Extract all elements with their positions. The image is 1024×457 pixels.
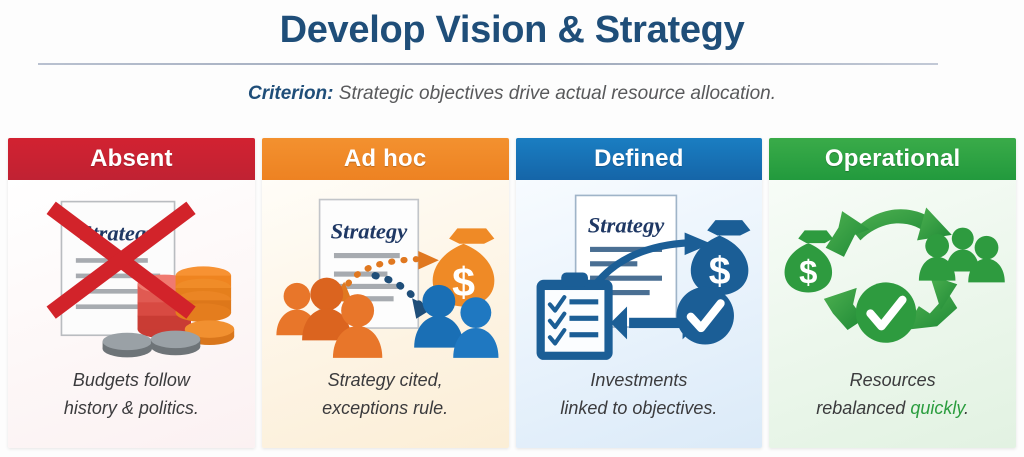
criterion-label: Criterion: bbox=[248, 83, 334, 104]
caption-line-2-pre: rebalanced bbox=[816, 398, 910, 418]
money-bag-icon-green: $ bbox=[785, 230, 833, 292]
illustration-operational: $ bbox=[769, 180, 1016, 362]
svg-text:Strategy: Strategy bbox=[587, 212, 665, 237]
illustration-ad-hoc: Strategy $ bbox=[262, 180, 509, 362]
caption-line-1: Resources bbox=[777, 366, 1008, 394]
card-caption-absent: Budgets follow history & politics. bbox=[8, 362, 255, 448]
caption-line-2-post: . bbox=[964, 398, 969, 418]
title-divider bbox=[38, 63, 938, 65]
page-title: Develop Vision & Strategy bbox=[0, 4, 1024, 56]
caption-line-2: exceptions rule. bbox=[270, 394, 501, 422]
illustration-absent: Strategy bbox=[8, 180, 255, 362]
illustration-defined: Strategy $ bbox=[516, 180, 763, 362]
ad-hoc-artwork: Strategy $ bbox=[262, 180, 509, 362]
card-body-operational: $ bbox=[769, 180, 1016, 448]
card-caption-defined: Investments linked to objectives. bbox=[516, 362, 763, 448]
caption-line-2: history & politics. bbox=[16, 394, 247, 422]
caption-line-2: rebalanced quickly. bbox=[777, 394, 1008, 422]
card-header-operational: Operational bbox=[769, 138, 1016, 180]
card-caption-operational: Resources rebalanced quickly. bbox=[769, 362, 1016, 448]
svg-text:$: $ bbox=[708, 250, 730, 293]
caption-line-2: linked to objectives. bbox=[524, 394, 755, 422]
check-circle-icon bbox=[856, 282, 916, 342]
card-header-ad-hoc: Ad hoc bbox=[262, 138, 509, 180]
maturity-card-defined[interactable]: Defined Strategy bbox=[516, 138, 763, 448]
svg-text:Strategy: Strategy bbox=[330, 219, 408, 244]
maturity-scale-graphic: Develop Vision & Strategy Criterion: Str… bbox=[0, 0, 1024, 457]
absent-artwork: Strategy bbox=[8, 180, 255, 362]
criterion-line: Criterion: Strategic objectives drive ac… bbox=[0, 80, 1024, 108]
card-header-absent: Absent bbox=[8, 138, 255, 180]
clipboard-checklist-icon bbox=[536, 273, 612, 360]
maturity-card-ad-hoc[interactable]: Ad hoc Strategy bbox=[262, 138, 509, 448]
maturity-card-row: Absent Strategy bbox=[8, 138, 1016, 448]
card-header-defined: Defined bbox=[516, 138, 763, 180]
caption-line-1: Budgets follow bbox=[16, 366, 247, 394]
svg-text:$: $ bbox=[799, 253, 817, 290]
maturity-card-operational[interactable]: Operational bbox=[769, 138, 1016, 448]
criterion-text: Strategic objectives drive actual resour… bbox=[339, 83, 776, 104]
caption-line-1: Strategy cited, bbox=[270, 366, 501, 394]
coin-grey-left bbox=[103, 333, 152, 358]
card-body-defined: Strategy $ bbox=[516, 180, 763, 448]
coin-grey-right bbox=[151, 331, 200, 356]
card-body-absent: Strategy bbox=[8, 180, 255, 448]
maturity-card-absent[interactable]: Absent Strategy bbox=[8, 138, 255, 448]
people-group-green bbox=[919, 228, 1005, 283]
caption-highlight-word: quickly bbox=[910, 398, 964, 418]
caption-line-1: Investments bbox=[524, 366, 755, 394]
check-circle-icon bbox=[676, 287, 734, 345]
defined-artwork: Strategy $ bbox=[516, 180, 763, 362]
card-caption-ad-hoc: Strategy cited, exceptions rule. bbox=[262, 362, 509, 448]
operational-artwork: $ bbox=[769, 180, 1016, 362]
card-body-ad-hoc: Strategy $ bbox=[262, 180, 509, 448]
money-bag-icon-blue: $ bbox=[690, 220, 750, 295]
